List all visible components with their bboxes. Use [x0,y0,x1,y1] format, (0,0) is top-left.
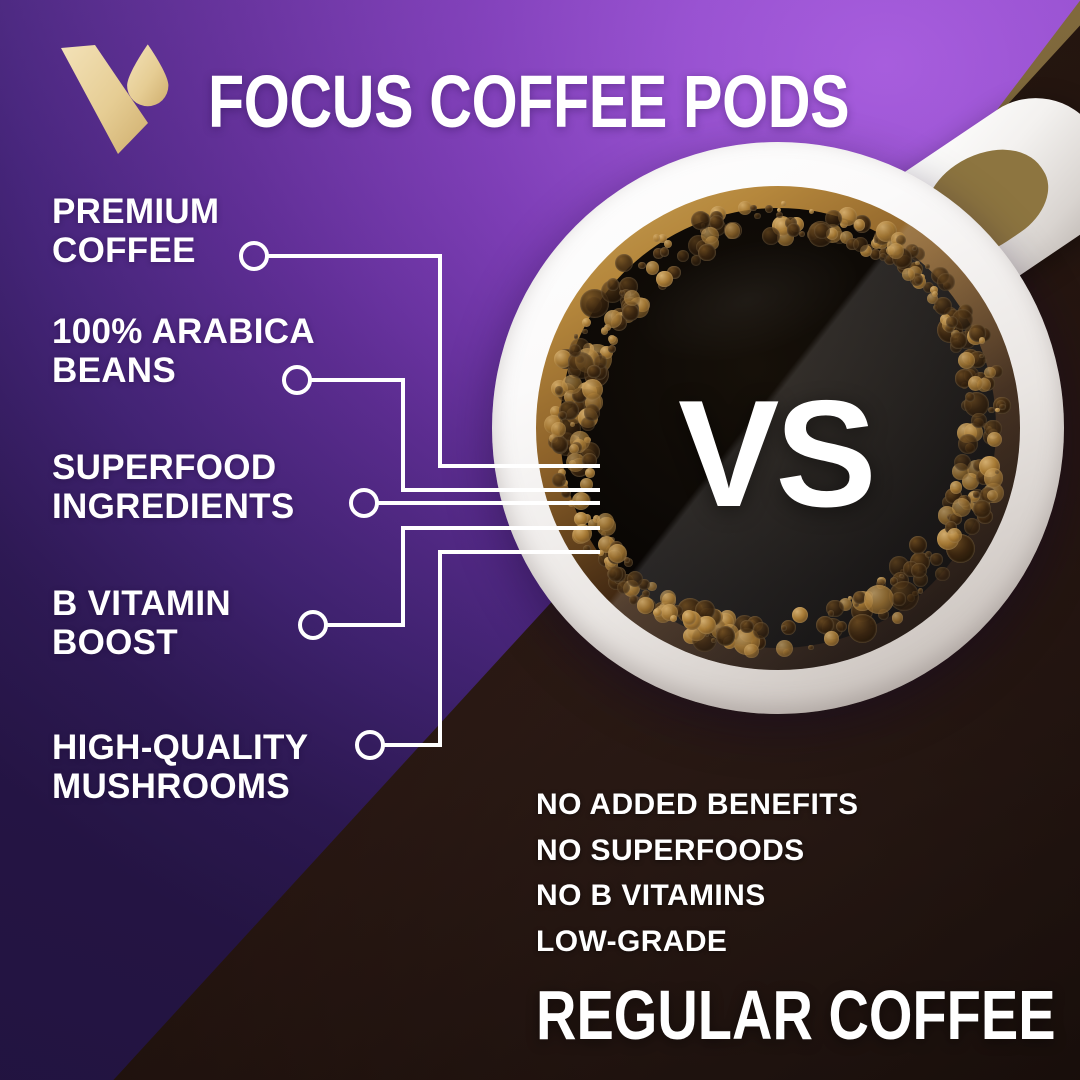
foam-bubble [946,316,958,328]
foam-bubble [765,205,773,213]
foam-bubble [561,487,572,498]
foam-bubble [979,337,986,344]
foam-bubble [711,638,716,643]
regular-coffee-block: NO ADDED BENEFITS NO SUPERFOODS NO B VIT… [536,782,1076,1050]
foam-bubble [646,261,660,275]
foam-bubble [814,223,830,239]
foam-bubble [987,432,1003,448]
foam-bubble [598,550,604,556]
feature-label-arabica-beans: 100% ARABICA BEANS [52,312,315,390]
foam-bubble [999,404,1005,410]
foam-bubble [627,571,643,587]
foam-bubble [558,411,567,420]
foam-bubble [725,223,741,239]
foam-bubble [584,404,600,420]
foam-bubble [932,291,938,297]
foam-bubble [660,247,669,256]
foam-bubble [828,610,834,616]
foam-bubble [642,590,650,598]
regular-coffee-headline: REGULAR COFFEE [536,980,968,1050]
foam-bubble [753,622,769,638]
foam-bubble [583,545,591,553]
foam-bubble [597,513,614,530]
foam-bubble [569,344,581,356]
foam-bubble [864,585,894,615]
foam-bubble [809,209,814,214]
foam-bubble [582,379,603,400]
foam-bubble [912,246,917,251]
foam-bubble [582,453,597,468]
foam-bubble [670,615,677,622]
foam-bubble [824,631,839,646]
foam-bubble [608,566,624,582]
foam-bubble [988,407,995,414]
foam-bubble [716,626,735,645]
foam-bubble [947,528,962,543]
negative-item: NO B VITAMINS [536,873,1076,919]
feature-label-mushrooms: HIGH-QUALITY MUSHROOMS [52,728,308,806]
foam-bubble [915,261,920,266]
foam-bubble [954,454,971,471]
foam-bubble [848,614,877,643]
foam-bubble [624,290,640,306]
foam-bubble [781,201,786,206]
v-drop-logo-icon [56,34,186,162]
foam-bubble [551,422,566,437]
negative-item: NO ADDED BENEFITS [536,782,1076,828]
foam-bubble [902,268,915,281]
foam-bubble [573,524,592,543]
foam-bubble [964,518,980,534]
foam-bubble [888,243,904,259]
foam-bubble [925,264,930,269]
foam-bubble [744,644,759,659]
foam-bubble [582,318,591,327]
foam-bubble [638,262,645,269]
foam-bubble [750,205,756,211]
foam-bubble [892,592,905,605]
foam-bubble [958,352,975,369]
foam-bubble [607,278,619,290]
foam-bubble [682,610,696,624]
foam-bubble [911,563,926,578]
foam-bubble [909,536,927,554]
foam-bubble [792,607,808,623]
foam-bubble [776,640,793,657]
foam-bubble [656,271,673,288]
foam-bubble [653,234,661,242]
infographic-canvas: FOCUS COFFEE PODS VS [0,0,1080,1080]
foam-bubble [892,612,903,623]
foam-bubble [950,332,966,348]
page-title: FOCUS COFFEE PODS [208,68,849,136]
feature-label-premium-coffee: PREMIUM COFFEE [52,192,219,270]
header: FOCUS COFFEE PODS [56,34,1009,162]
foam-bubble [552,473,565,486]
foam-bubble [987,490,998,501]
foam-bubble [984,468,1004,488]
foam-bubble [585,468,595,478]
foam-bubble [754,213,760,219]
foam-bubble [587,365,600,378]
foam-bubble [569,444,579,454]
foam-bubble [973,491,979,497]
feature-label-b-vitamin-boost: B VITAMIN BOOST [52,584,231,662]
foam-bubble [637,597,653,613]
negative-item: LOW-GRADE [536,919,1076,965]
negative-item: NO SUPERFOODS [536,828,1076,874]
foam-bubble [973,500,990,517]
feature-label-superfood-ingredients: SUPERFOOD INGREDIENTS [52,448,295,526]
vs-label: VS [678,378,873,530]
foam-bubble [958,434,978,454]
foam-bubble [615,254,633,272]
foam-bubble [622,304,638,320]
foam-bubble [930,553,943,566]
